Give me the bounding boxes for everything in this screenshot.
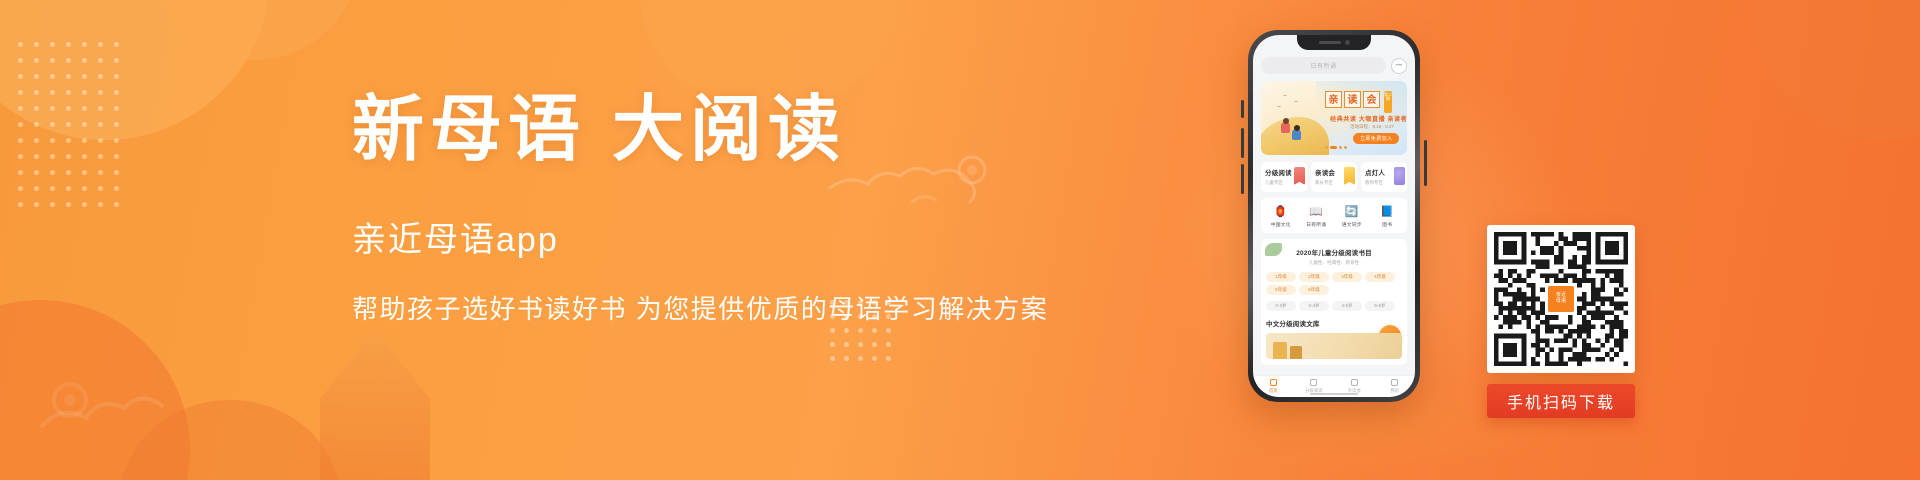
decor-house-shape: [320, 330, 430, 480]
decor-dot: [34, 154, 39, 159]
decor-dot: [98, 42, 103, 47]
carousel-dot[interactable]: [1344, 146, 1347, 149]
decor-dot: [66, 58, 71, 63]
carousel-indicator[interactable]: [1325, 146, 1347, 149]
decor-dot: [82, 90, 87, 95]
decor-dot: [98, 58, 103, 63]
quick-icon-row: 🏮 中国文化 📖 日有所诵 🔄 语文同步 📘 图书: [1261, 198, 1407, 233]
decor-dot: [82, 58, 87, 63]
phone-power-button: [1424, 140, 1427, 186]
decor-circle-top-left-2: [150, 0, 360, 60]
app-name: 亲近母语app: [352, 212, 1052, 261]
quick-item-label: 中国文化: [1263, 221, 1299, 228]
decor-dot: [34, 90, 39, 95]
child-head-red: [1283, 118, 1289, 124]
decor-dot: [34, 186, 39, 191]
sync-icon: 🔄: [1334, 204, 1370, 219]
app-search-bar: 日有所诵 •••: [1261, 57, 1407, 74]
carousel-dot[interactable]: [1325, 146, 1328, 149]
decor-dot: [34, 42, 39, 47]
decor-dot: [114, 138, 119, 143]
decor-dot: [82, 154, 87, 159]
message-icon[interactable]: •••: [1391, 58, 1407, 74]
decor-dot: [98, 74, 103, 79]
speaker-grill-icon: [1319, 41, 1341, 44]
decor-dot: [114, 58, 119, 63]
decor-dot: [830, 328, 835, 333]
phone-volume-up: [1241, 128, 1244, 158]
decor-dot: [18, 170, 23, 175]
decor-dot: [50, 74, 55, 79]
app-screen: 日有所诵 ••• 亲 读 会: [1253, 35, 1415, 397]
decor-dot: [114, 74, 119, 79]
quick-item-recite[interactable]: 📖 日有所诵: [1299, 204, 1335, 228]
qr-code-card: 亲近 母语: [1487, 225, 1635, 373]
decor-dot: [50, 42, 55, 47]
grade-tag[interactable]: 6年级: [1299, 285, 1329, 295]
decor-dot: [114, 42, 119, 47]
card-parent-club[interactable]: 亲读会 家长专区: [1311, 162, 1357, 192]
decor-dot: [98, 186, 103, 191]
decor-dot: [886, 356, 891, 361]
carousel-dot-active[interactable]: [1330, 146, 1337, 149]
decor-dot: [34, 202, 39, 207]
grade-tag[interactable]: 5年级: [1266, 285, 1296, 295]
decor-dot: [66, 90, 71, 95]
cloud-swirl-left-icon: [30, 330, 220, 450]
decor-dot: [98, 106, 103, 111]
hero-subtitle: 经典共读 大咖直播 亲读者说: [1323, 114, 1407, 123]
book-block: [1290, 346, 1302, 359]
decor-dot-grid-left: [18, 42, 138, 212]
books-icon: 📘: [1370, 204, 1406, 219]
qr-center-logo: 亲近 母语: [1546, 284, 1576, 314]
decor-dot: [50, 90, 55, 95]
decor-dot: [66, 74, 71, 79]
hero-banner-card[interactable]: 亲 读 会 第二期 经典共读 大咖直播 亲读者说 活动日程：9.16 - 9.2…: [1261, 81, 1407, 155]
headline-part-1: 新母语: [352, 90, 586, 170]
quick-item-culture[interactable]: 🏮 中国文化: [1263, 204, 1299, 228]
decor-dot: [34, 74, 39, 79]
headline-part-2: 大阅读: [612, 90, 846, 170]
decor-dot: [50, 170, 55, 175]
quick-item-label: 日有所诵: [1299, 221, 1335, 228]
book-block: [1273, 342, 1287, 359]
home-indicator: [1310, 393, 1358, 396]
decor-dot: [82, 170, 87, 175]
decor-dot: [858, 342, 863, 347]
decor-dot: [844, 356, 849, 361]
decor-dot: [98, 122, 103, 127]
grade-tag-list: 1年级2年级3年级4年级5年级6年级: [1266, 272, 1402, 295]
age-tag[interactable]: 0-3岁: [1266, 301, 1296, 311]
bird-icon: [1283, 95, 1287, 97]
decor-dot: [98, 138, 103, 143]
decor-dot: [98, 154, 103, 159]
age-tag-list: 0-3岁3-4岁4-5岁5-6岁: [1266, 301, 1402, 311]
tab-icon: [1351, 379, 1358, 386]
lamp-purple-icon: [1394, 167, 1405, 185]
hero-join-button[interactable]: 立即免费加入: [1353, 133, 1399, 144]
decor-circle-top-left: [0, 0, 270, 140]
booklist-title: 2020年儿童分级阅读书目: [1266, 247, 1402, 257]
decor-dot: [50, 122, 55, 127]
category-cards: 分级阅读 儿童专区 亲读会 家长专区 点灯人 教师专区: [1261, 162, 1407, 192]
tab-item[interactable]: 我的: [1375, 379, 1416, 394]
phone-mockup: 日有所诵 ••• 亲 读 会: [1248, 30, 1420, 402]
decor-dot: [844, 328, 849, 333]
decor-dot: [34, 122, 39, 127]
quick-item-label: 图书: [1370, 221, 1406, 228]
hero-char-2: 读: [1344, 91, 1361, 108]
tab-icon: [1270, 379, 1277, 386]
decor-dot: [34, 58, 39, 63]
decor-dot: [82, 122, 87, 127]
grade-tag[interactable]: 2年级: [1299, 272, 1329, 282]
decor-dot: [886, 328, 891, 333]
download-button[interactable]: 手机扫码下载: [1487, 384, 1635, 418]
tab-icon: [1391, 379, 1398, 386]
decor-dot: [66, 186, 71, 191]
decor-dot: [82, 106, 87, 111]
decor-dot: [114, 122, 119, 127]
decor-dot: [34, 138, 39, 143]
bird-icon: [1277, 106, 1281, 108]
carousel-dot[interactable]: [1339, 146, 1342, 149]
decor-dot: [858, 328, 863, 333]
decor-dot: [66, 42, 71, 47]
quick-item-sync[interactable]: 🔄 语文同步: [1334, 204, 1370, 228]
age-tag[interactable]: 4-5岁: [1332, 301, 1362, 311]
decor-dot: [50, 154, 55, 159]
age-tag[interactable]: 3-4岁: [1299, 301, 1329, 311]
decor-dot: [50, 138, 55, 143]
banner-copy: 新母语大阅读 亲近母语app 帮助孩子选好书读好书 为您提供优质的母语学习解决方…: [352, 92, 1052, 326]
decor-dot: [82, 138, 87, 143]
decor-dot: [50, 186, 55, 191]
hero-char-3: 会: [1363, 91, 1380, 108]
phone-volume-down: [1241, 164, 1244, 194]
hero-badge: 第二期: [1384, 91, 1392, 113]
qr-section: 亲近 母语 手机扫码下载: [1487, 225, 1635, 418]
quick-item-label: 语文同步: [1334, 221, 1370, 228]
decor-dot: [872, 356, 877, 361]
decor-circle-bottom-left-2: [120, 400, 340, 480]
page-title: 新母语大阅读: [352, 92, 1052, 168]
decor-dot: [66, 122, 71, 127]
decor-dot: [98, 90, 103, 95]
grade-tag[interactable]: 1年级: [1266, 272, 1296, 282]
decor-dot: [830, 342, 835, 347]
decor-dot: [34, 170, 39, 175]
decor-dot: [114, 90, 119, 95]
decor-dot: [50, 58, 55, 63]
bird-icon: [1294, 101, 1298, 103]
decor-dot: [18, 42, 23, 47]
decor-dot: [18, 122, 23, 127]
grade-tag[interactable]: 4年级: [1365, 272, 1395, 282]
hero-title: 亲 读 会 第二期: [1325, 91, 1392, 113]
decor-dot: [114, 186, 119, 191]
decor-dot: [18, 106, 23, 111]
tab-label: 首页: [1269, 388, 1278, 393]
decor-dot: [66, 170, 71, 175]
decor-circle-top-right: [1750, 0, 1920, 140]
decor-dot: [82, 42, 87, 47]
child-head-blue: [1294, 125, 1300, 131]
decor-dot: [66, 138, 71, 143]
decor-dot: [34, 106, 39, 111]
card-teacher-zone[interactable]: 点灯人 教师专区: [1361, 162, 1407, 192]
decor-dot: [18, 154, 23, 159]
phone-notch: [1297, 35, 1371, 50]
decor-dot: [66, 154, 71, 159]
decor-dot: [114, 170, 119, 175]
decor-dot: [844, 342, 849, 347]
decor-dot: [66, 106, 71, 111]
booklist-section: 2020年儿童分级阅读书目 儿童性、经典性、教育性 1年级2年级3年级4年级5年…: [1261, 239, 1407, 365]
age-tag[interactable]: 5-6岁: [1365, 301, 1395, 311]
phone-mute-switch: [1241, 100, 1244, 118]
decor-dot: [66, 202, 71, 207]
phone-screen: 日有所诵 ••• 亲 读 会: [1253, 35, 1415, 397]
decor-dot: [82, 74, 87, 79]
decor-dot: [18, 186, 23, 191]
decor-dot: [18, 138, 23, 143]
decor-dot: [830, 356, 835, 361]
decor-dot: [82, 202, 87, 207]
tab-label: 我的: [1390, 388, 1399, 393]
decor-dot: [50, 106, 55, 111]
grade-tag[interactable]: 3年级: [1332, 272, 1362, 282]
decor-dot: [82, 186, 87, 191]
decor-dot: [114, 154, 119, 159]
culture-icon: 🏮: [1263, 204, 1299, 219]
decor-dot: [114, 202, 119, 207]
decor-dot: [872, 328, 877, 333]
search-input[interactable]: 日有所诵: [1261, 57, 1386, 74]
decor-dot: [98, 202, 103, 207]
front-camera-icon: [1345, 40, 1350, 45]
decor-dot: [98, 170, 103, 175]
decor-dot: [18, 90, 23, 95]
decor-dot: [50, 202, 55, 207]
hero-date: 活动日程：9.16 - 9.27: [1323, 124, 1407, 130]
quick-item-books[interactable]: 📘 图书: [1370, 204, 1406, 228]
decor-dot: [18, 58, 23, 63]
decor-dot: [18, 202, 23, 207]
library-strip[interactable]: [1266, 333, 1402, 359]
hero-char-1: 亲: [1325, 91, 1342, 108]
recite-icon: 📖: [1299, 204, 1335, 219]
decor-dot: [858, 356, 863, 361]
decor-dot: [18, 74, 23, 79]
decor-dot: [114, 106, 119, 111]
decor-circle-bottom-left: [0, 300, 190, 480]
booklist-subtitle: 儿童性、经典性、教育性: [1266, 260, 1402, 266]
decor-dot: [886, 342, 891, 347]
tab-home[interactable]: 首页: [1253, 379, 1294, 394]
promo-banner: 新母语大阅读 亲近母语app 帮助孩子选好书读好书 为您提供优质的母语学习解决方…: [0, 0, 1920, 480]
decor-dot: [872, 342, 877, 347]
tagline: 帮助孩子选好书读好书 为您提供优质的母语学习解决方案: [352, 289, 1052, 326]
card-graded-reading[interactable]: 分级阅读 儿童专区: [1261, 162, 1307, 192]
library-title: 中文分级阅读文库: [1266, 318, 1402, 328]
qr-logo-line2: 母语: [1556, 299, 1567, 305]
tab-icon: [1310, 379, 1317, 386]
